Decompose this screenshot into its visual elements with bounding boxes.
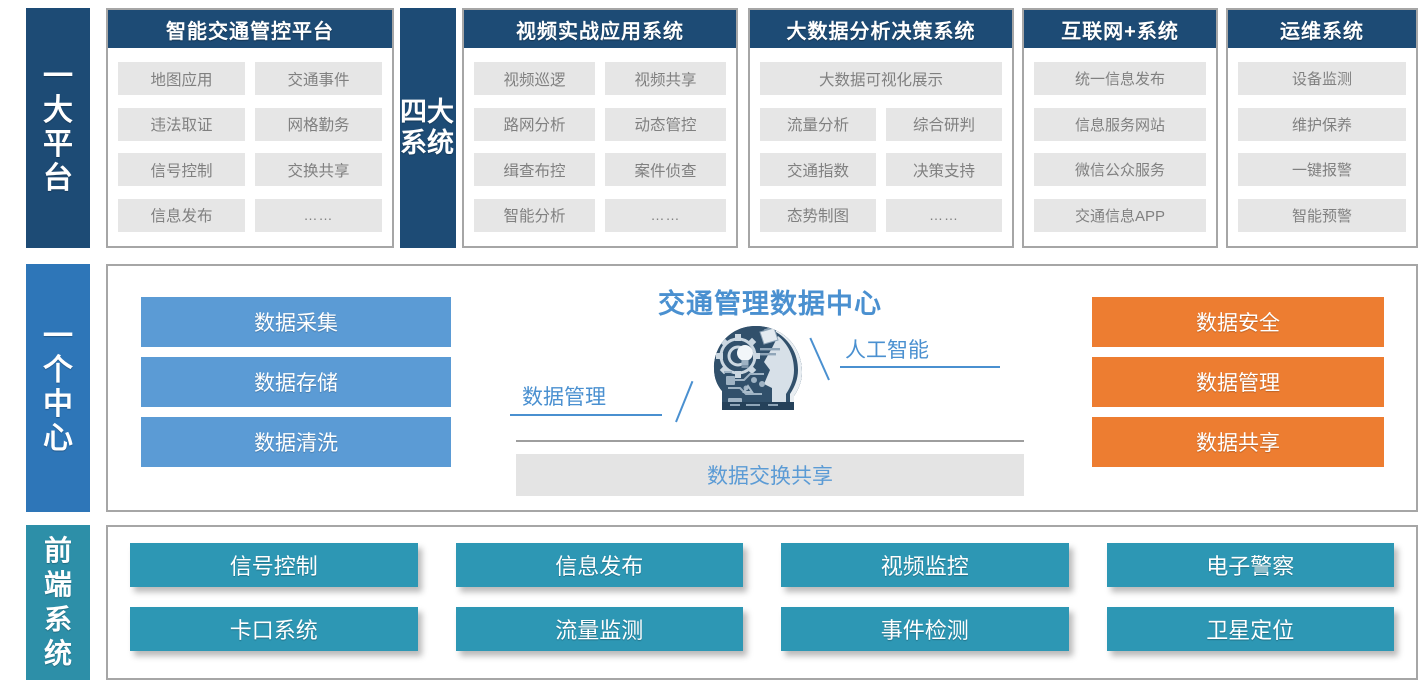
vlabel-char: 大 bbox=[43, 94, 73, 128]
panel-row: 路网分析动态管控 bbox=[474, 108, 726, 141]
vlabel-char: 四 bbox=[400, 97, 427, 127]
panel-item[interactable]: 交通事件 bbox=[255, 62, 382, 95]
panel-ops-body: 设备监测维护保养一键报警智能预警 bbox=[1228, 48, 1416, 246]
frontend-system-item[interactable]: 事件检测 bbox=[781, 607, 1069, 651]
underline-ai bbox=[840, 366, 1000, 368]
panel-row: 智能预警 bbox=[1238, 199, 1406, 232]
label-data-management: 数据管理 bbox=[522, 381, 606, 411]
panel-row: 维护保养 bbox=[1238, 108, 1406, 141]
panel-row: 一键报警 bbox=[1238, 153, 1406, 186]
panel-internet-body: 统一信息发布信息服务网站微信公众服务交通信息APP bbox=[1024, 48, 1216, 246]
panel-item[interactable]: 维护保养 bbox=[1238, 108, 1406, 141]
panel-item[interactable]: 统一信息发布 bbox=[1034, 62, 1206, 95]
vlabel-char: 大 bbox=[427, 97, 454, 127]
data-governance-item[interactable]: 数据管理 bbox=[1092, 357, 1384, 407]
frontend-system-item[interactable]: 电子警察 bbox=[1107, 543, 1395, 587]
panel-row: 缉查布控案件侦查 bbox=[474, 153, 726, 186]
section-label-platform-text: 一大平台 bbox=[43, 60, 73, 197]
section-label-four-systems-text: 四大系统 bbox=[400, 97, 456, 160]
label-artificial-intelligence: 人工智能 bbox=[845, 334, 929, 364]
frontend-systems-grid: 信号控制信息发布视频监控电子警察卡口系统流量监测事件检测卫星定位 bbox=[130, 543, 1394, 662]
panel-item[interactable]: 信号控制 bbox=[118, 153, 245, 186]
data-exchange-bar: 数据交换共享 bbox=[516, 454, 1024, 496]
section-label-center: 一个中心 bbox=[26, 264, 90, 512]
panel-item[interactable]: 网格勤务 bbox=[255, 108, 382, 141]
vlabel-char: 一 bbox=[43, 320, 73, 354]
panel-item-more[interactable]: …… bbox=[605, 199, 726, 232]
panel-item[interactable]: 设备监测 bbox=[1238, 62, 1406, 95]
vlabel-char: 一 bbox=[43, 60, 73, 94]
panel-row: 地图应用交通事件 bbox=[118, 62, 382, 95]
vlabel-char: 心 bbox=[43, 422, 73, 456]
panel-row: 态势制图…… bbox=[760, 199, 1002, 232]
panel-item[interactable]: 综合研判 bbox=[886, 108, 1002, 141]
panel-item-more[interactable]: …… bbox=[255, 199, 382, 232]
panel-item[interactable]: 案件侦查 bbox=[605, 153, 726, 186]
architecture-diagram: 一大平台 一个中心 前端系统 智能交通管控平台 地图应用交通事件违法取证网格勤务… bbox=[0, 0, 1426, 686]
panel-row: 视频巡逻视频共享 bbox=[474, 62, 726, 95]
panel-row: 违法取证网格勤务 bbox=[118, 108, 382, 141]
vlabel-char: 平 bbox=[43, 128, 73, 162]
data-governance-stack: 数据安全数据管理数据共享 bbox=[1092, 297, 1384, 467]
panel-item[interactable]: 决策支持 bbox=[886, 153, 1002, 186]
underline-data-management bbox=[510, 414, 662, 416]
panel-row: 交通信息APP bbox=[1034, 199, 1206, 232]
panel-row: 大数据可视化展示 bbox=[760, 62, 1002, 95]
frontend-system-item[interactable]: 信号控制 bbox=[130, 543, 418, 587]
panel-item[interactable]: 视频巡逻 bbox=[474, 62, 595, 95]
panel-row: 信号控制交换共享 bbox=[118, 153, 382, 186]
vlabel-char: 统 bbox=[427, 128, 454, 158]
data-center-hub: 交通管理数据中心 数据管理 人工智能 bbox=[510, 276, 1030, 504]
panel-item[interactable]: 信息发布 bbox=[118, 199, 245, 232]
panel-item[interactable]: 一键报警 bbox=[1238, 153, 1406, 186]
frontend-system-item[interactable]: 信息发布 bbox=[456, 543, 744, 587]
panel-item[interactable]: 视频共享 bbox=[605, 62, 726, 95]
data-pipeline-item[interactable]: 数据清洗 bbox=[141, 417, 451, 467]
frontend-system-item[interactable]: 视频监控 bbox=[781, 543, 1069, 587]
vlabel-char: 中 bbox=[43, 388, 73, 422]
panel-video: 视频实战应用系统 视频巡逻视频共享路网分析动态管控缉查布控案件侦查智能分析…… bbox=[462, 8, 738, 248]
panel-bigdata: 大数据分析决策系统 大数据可视化展示流量分析综合研判交通指数决策支持态势制图…… bbox=[748, 8, 1014, 248]
brain-head-ai-icon bbox=[698, 318, 818, 428]
section-label-center-text: 一个中心 bbox=[43, 320, 73, 457]
data-governance-item[interactable]: 数据共享 bbox=[1092, 417, 1384, 467]
panel-item[interactable]: 智能分析 bbox=[474, 199, 595, 232]
panel-row: 信息发布…… bbox=[118, 199, 382, 232]
panel-item[interactable]: 态势制图 bbox=[760, 199, 876, 232]
panel-item[interactable]: 动态管控 bbox=[605, 108, 726, 141]
frontend-systems-frame: 信号控制信息发布视频监控电子警察卡口系统流量监测事件检测卫星定位 bbox=[106, 525, 1418, 680]
panel-row: 统一信息发布 bbox=[1034, 62, 1206, 95]
panel-row: 交通指数决策支持 bbox=[760, 153, 1002, 186]
vlabel-char: 统 bbox=[44, 637, 72, 671]
panel-item[interactable]: 微信公众服务 bbox=[1034, 153, 1206, 186]
panel-item[interactable]: 地图应用 bbox=[118, 62, 245, 95]
panel-video-body: 视频巡逻视频共享路网分析动态管控缉查布控案件侦查智能分析…… bbox=[464, 48, 736, 246]
vlabel-char: 个 bbox=[43, 354, 73, 388]
panel-bigdata-title: 大数据分析决策系统 bbox=[750, 10, 1012, 48]
section-label-frontend: 前端系统 bbox=[26, 525, 90, 680]
panel-item[interactable]: 交通信息APP bbox=[1034, 199, 1206, 232]
panel-row: 信息服务网站 bbox=[1034, 108, 1206, 141]
frontend-system-item[interactable]: 卫星定位 bbox=[1107, 607, 1395, 651]
frontend-system-item[interactable]: 卡口系统 bbox=[130, 607, 418, 651]
panel-item[interactable]: 流量分析 bbox=[760, 108, 876, 141]
panel-row: 微信公众服务 bbox=[1034, 153, 1206, 186]
panel-ops-title: 运维系统 bbox=[1228, 10, 1416, 48]
panel-ops: 运维系统 设备监测维护保养一键报警智能预警 bbox=[1226, 8, 1418, 248]
panel-video-title: 视频实战应用系统 bbox=[464, 10, 736, 48]
panel-platform-body: 地图应用交通事件违法取证网格勤务信号控制交换共享信息发布…… bbox=[108, 48, 392, 246]
data-governance-item[interactable]: 数据安全 bbox=[1092, 297, 1384, 347]
panel-item[interactable]: 信息服务网站 bbox=[1034, 108, 1206, 141]
panel-item[interactable]: 违法取证 bbox=[118, 108, 245, 141]
panel-row: 流量分析综合研判 bbox=[760, 108, 1002, 141]
panel-item[interactable]: 大数据可视化展示 bbox=[760, 62, 1002, 95]
vlabel-char: 系 bbox=[400, 128, 427, 158]
hub-divider bbox=[516, 440, 1024, 442]
section-label-platform: 一大平台 bbox=[26, 8, 90, 248]
panel-bigdata-body: 大数据可视化展示流量分析综合研判交通指数决策支持态势制图…… bbox=[750, 48, 1012, 246]
data-pipeline-stack: 数据采集数据存储数据清洗 bbox=[141, 297, 451, 467]
panel-item[interactable]: 智能预警 bbox=[1238, 199, 1406, 232]
panel-row: 设备监测 bbox=[1238, 62, 1406, 95]
panel-item[interactable]: 交通指数 bbox=[760, 153, 876, 186]
vlabel-char: 台 bbox=[43, 162, 73, 196]
panel-item[interactable]: 缉查布控 bbox=[474, 153, 595, 186]
frontend-system-item[interactable]: 流量监测 bbox=[456, 607, 744, 651]
panel-internet-title: 互联网+系统 bbox=[1024, 10, 1216, 48]
section-label-four-systems: 四大系统 bbox=[400, 8, 456, 248]
connector-left bbox=[675, 381, 693, 423]
section-label-frontend-text: 前端系统 bbox=[44, 534, 72, 671]
data-center-frame: 数据采集数据存储数据清洗 交通管理数据中心 数据管理 人工智能 bbox=[106, 264, 1418, 512]
panel-row: 智能分析…… bbox=[474, 199, 726, 232]
vlabel-char: 系 bbox=[44, 603, 72, 637]
data-pipeline-item[interactable]: 数据采集 bbox=[141, 297, 451, 347]
vlabel-char: 端 bbox=[44, 568, 72, 602]
data-pipeline-item[interactable]: 数据存储 bbox=[141, 357, 451, 407]
panel-platform: 智能交通管控平台 地图应用交通事件违法取证网格勤务信号控制交换共享信息发布…… bbox=[106, 8, 394, 248]
panel-platform-title: 智能交通管控平台 bbox=[108, 10, 392, 48]
panel-item[interactable]: 路网分析 bbox=[474, 108, 595, 141]
panel-item-more[interactable]: …… bbox=[886, 199, 1002, 232]
panel-item[interactable]: 交换共享 bbox=[255, 153, 382, 186]
data-center-title: 交通管理数据中心 bbox=[510, 282, 1030, 321]
panel-internet: 互联网+系统 统一信息发布信息服务网站微信公众服务交通信息APP bbox=[1022, 8, 1218, 248]
vlabel-char: 前 bbox=[44, 534, 72, 568]
